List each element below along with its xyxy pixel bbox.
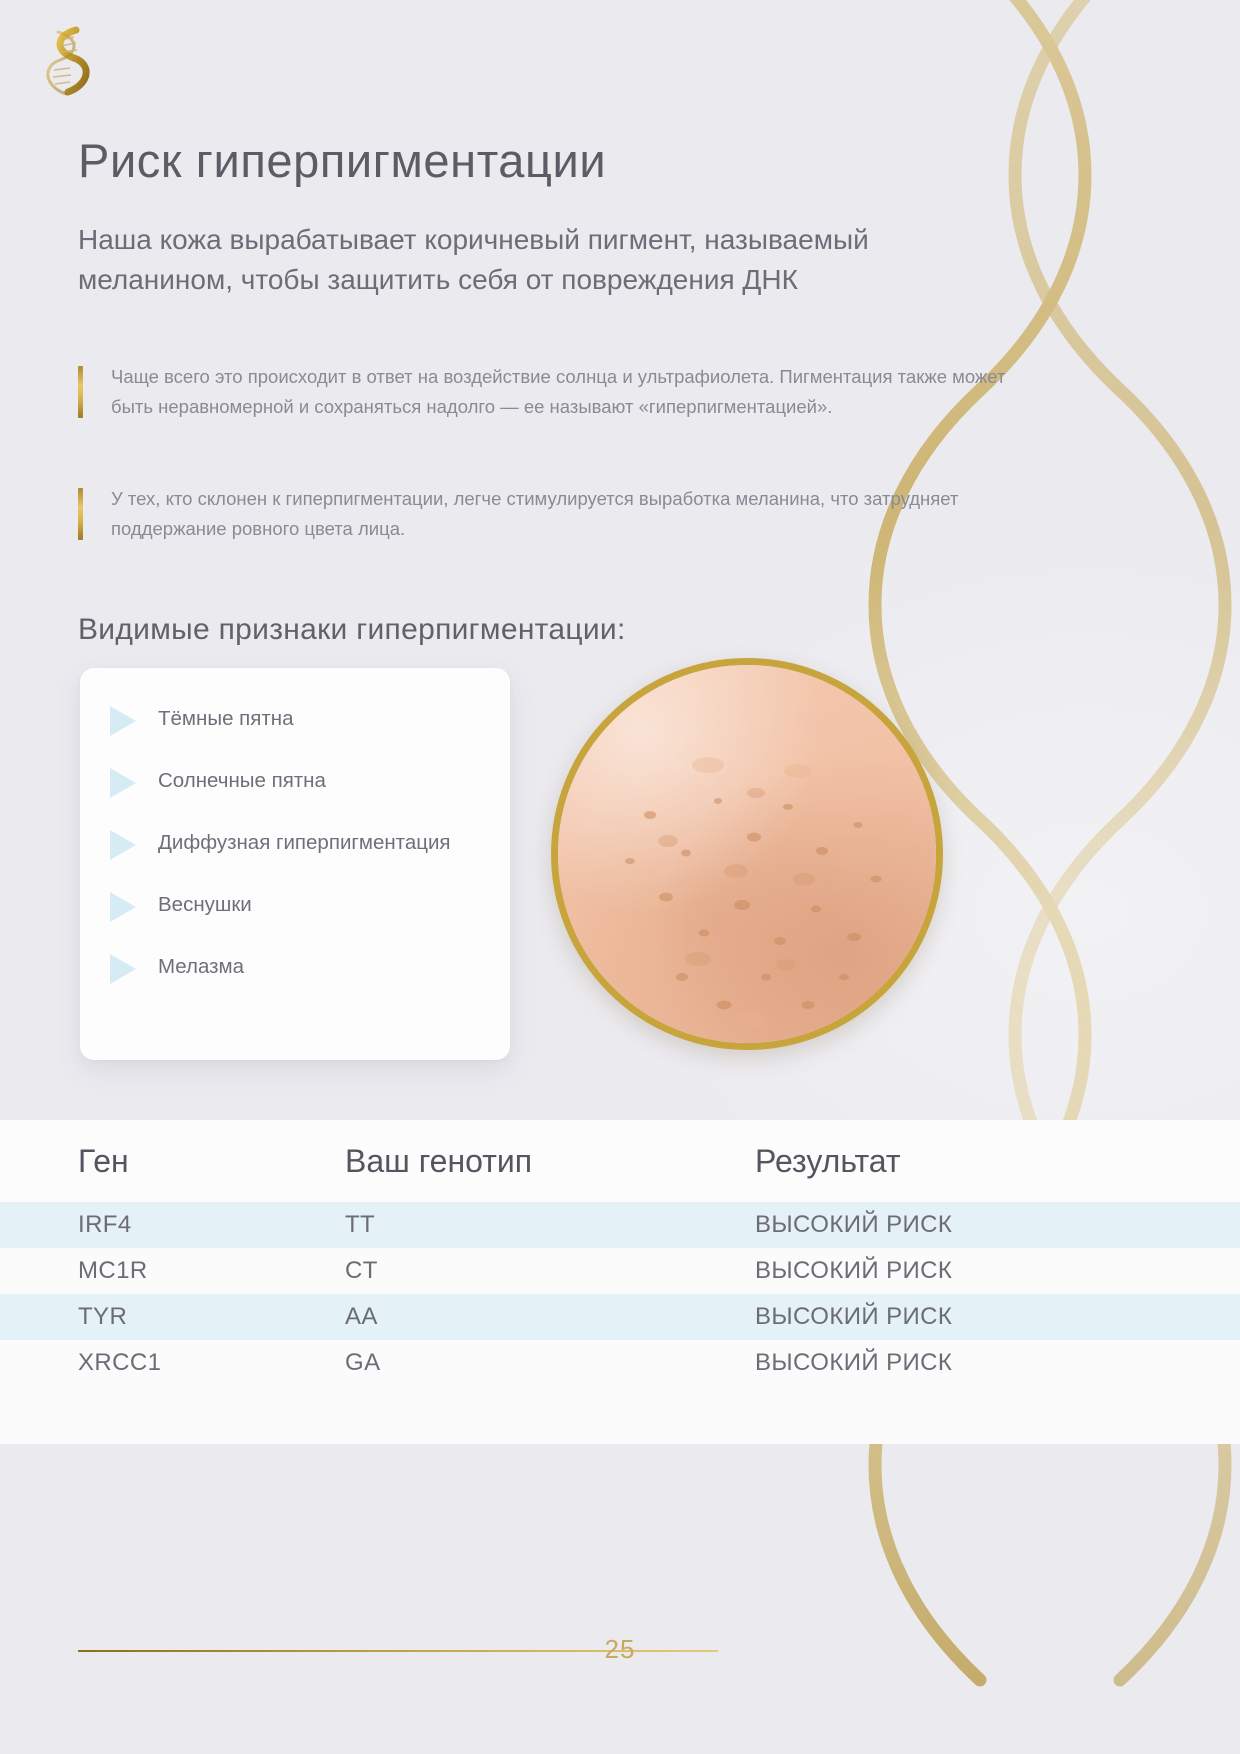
sign-label: Мелазма: [158, 952, 244, 982]
cell-result: ВЫСОКИЙ РИСК: [755, 1248, 1240, 1294]
table-row: MC1R CT ВЫСОКИЙ РИСК: [0, 1248, 1240, 1294]
table-bottom-spacer: [0, 1386, 1240, 1444]
triangle-bullet-icon: [110, 954, 136, 984]
cell-gene: TYR: [0, 1294, 345, 1340]
sign-label: Диффузная гиперпигментация: [158, 828, 451, 858]
page-title: Риск гиперпигментации: [78, 135, 606, 187]
column-header-genotype: Ваш генотип: [345, 1120, 755, 1202]
column-header-result: Результат: [755, 1120, 1240, 1202]
sign-label: Тёмные пятна: [158, 704, 293, 734]
dna-helix-icon: [36, 22, 98, 100]
cell-result: ВЫСОКИЙ РИСК: [755, 1202, 1240, 1248]
list-item: Мелазма: [110, 952, 480, 984]
table-row: TYR AA ВЫСОКИЙ РИСК: [0, 1294, 1240, 1340]
cell-genotype: AA: [345, 1294, 755, 1340]
page-subtitle: Наша кожа вырабатывает коричневый пигмен…: [78, 220, 958, 300]
signs-section-heading: Видимые признаки гиперпигментации:: [78, 613, 626, 647]
list-item: Диффузная гиперпигментация: [110, 828, 480, 860]
cell-genotype: CT: [345, 1248, 755, 1294]
sign-label: Солнечные пятна: [158, 766, 326, 796]
cell-genotype: TT: [345, 1202, 755, 1248]
cell-genotype: GA: [345, 1340, 755, 1386]
triangle-bullet-icon: [110, 706, 136, 736]
cell-result: ВЫСОКИЙ РИСК: [755, 1340, 1240, 1386]
sign-label: Веснушки: [158, 890, 252, 920]
callout-block-2: У тех, кто склонен к гиперпигментации, л…: [78, 484, 1011, 544]
triangle-bullet-icon: [110, 768, 136, 798]
table-header-row: Ген Ваш генотип Результат: [0, 1120, 1240, 1202]
freckle-pattern: [558, 665, 943, 1050]
list-item: Тёмные пятна: [110, 704, 480, 736]
triangle-bullet-icon: [110, 830, 136, 860]
column-header-gene: Ген: [0, 1120, 345, 1202]
signs-card: Тёмные пятна Солнечные пятна Диффузная г…: [80, 668, 510, 1060]
cell-gene: XRCC1: [0, 1340, 345, 1386]
list-item: Солнечные пятна: [110, 766, 480, 798]
table-row: XRCC1 GA ВЫСОКИЙ РИСК: [0, 1340, 1240, 1386]
page-footer: 25: [0, 1634, 1240, 1694]
cell-gene: MC1R: [0, 1248, 345, 1294]
table-row: IRF4 TT ВЫСОКИЙ РИСК: [0, 1202, 1240, 1248]
triangle-bullet-icon: [110, 892, 136, 922]
cell-result: ВЫСОКИЙ РИСК: [755, 1294, 1240, 1340]
skin-hyperpigmentation-photo: [551, 658, 943, 1050]
cell-gene: IRF4: [0, 1202, 345, 1248]
report-page: Риск гиперпигментации Наша кожа вырабаты…: [0, 0, 1240, 1754]
genetics-table: Ген Ваш генотип Результат IRF4 TT ВЫСОКИ…: [0, 1120, 1240, 1444]
callout-block-1: Чаще всего это происходит в ответ на воз…: [78, 362, 1011, 422]
list-item: Веснушки: [110, 890, 480, 922]
page-number: 25: [0, 1634, 1240, 1665]
